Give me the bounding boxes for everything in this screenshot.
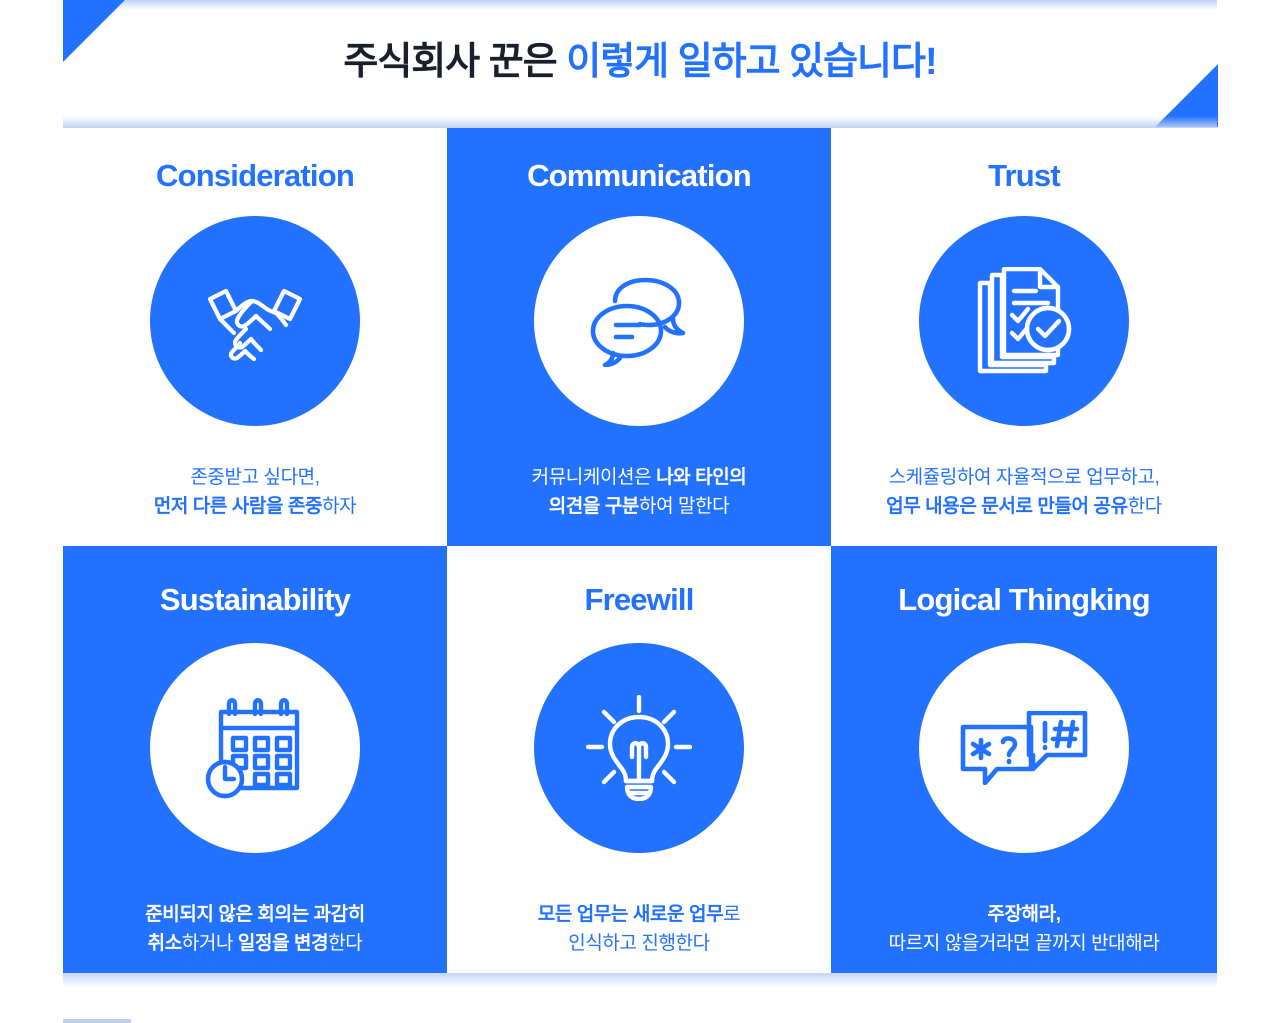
symbol-bubbles-icon (919, 643, 1129, 853)
value-card-trust[interactable]: Trust 스케쥴링하여 자율적으로 업무하고, 업무 내용은 문서로 만들어 … (831, 128, 1217, 546)
caption-normal: 하자 (322, 496, 356, 517)
card-title: Sustainability (160, 584, 350, 615)
caption-bold: 준비되지 않은 회의는 과감히 (145, 904, 365, 925)
caption-normal: 인식하고 진행한다 (568, 933, 710, 954)
caption-line-2: 먼저 다른 사람을 존중하자 (154, 493, 357, 522)
page-title-blue-part: 이렇게 일하고 있습니다! (566, 41, 936, 83)
values-grid: Consideration 존중받고 싶다면, 먼저 다른 사람을 존중하자 C… (63, 128, 1217, 973)
caption-normal: 한다 (1128, 496, 1162, 517)
card-title: Logical Thingking (898, 584, 1150, 615)
caption-line-2: 인식하고 진행한다 (538, 930, 741, 959)
value-card-communication[interactable]: Communication 커뮤니케이션은 나와 타인의 의견을 구분하여 말한… (447, 128, 831, 546)
card-caption: 스케쥴링하여 자율적으로 업무하고, 업무 내용은 문서로 만들어 공유한다 (886, 464, 1162, 522)
caption-line-1: 존중받고 싶다면, (154, 464, 357, 493)
caption-line-2: 의견을 구분하여 말한다 (532, 493, 747, 522)
card-title: Freewill (584, 584, 693, 615)
caption-normal: 로 (723, 904, 740, 925)
footer-accent-bar (63, 1019, 131, 1023)
caption-line-2: 따르지 않을거라면 끝까지 반대해라 (889, 930, 1160, 959)
caption-bold: 모든 업무는 새로운 업무 (538, 904, 723, 925)
document-check-icon (919, 216, 1129, 426)
value-card-consideration[interactable]: Consideration 존중받고 싶다면, 먼저 다른 사람을 존중하자 (63, 128, 447, 546)
card-title: Communication (527, 160, 751, 191)
caption-bold-2: 일정을 변경 (238, 933, 328, 954)
caption-bold: 취소 (148, 933, 182, 954)
caption-normal: 하거나 (182, 933, 238, 954)
caption-bold: 의견을 구분 (549, 496, 639, 517)
caption-bold: 주장해라, (987, 904, 1060, 925)
page-header: 주식회사 꾼은 이렇게 일하고 있습니다! (0, 0, 1280, 128)
caption-line-2: 취소하거나 일정을 변경한다 (145, 930, 365, 959)
caption-line-2: 업무 내용은 문서로 만들어 공유한다 (886, 493, 1162, 522)
card-caption: 커뮤니케이션은 나와 타인의 의견을 구분하여 말한다 (532, 464, 747, 522)
card-caption: 존중받고 싶다면, 먼저 다른 사람을 존중하자 (154, 464, 357, 522)
value-card-sustainability[interactable]: Sustainability 준비되지 않 (63, 546, 447, 973)
card-title: Consideration (156, 160, 354, 191)
page-title: 주식회사 꾼은 이렇게 일하고 있습니다! (0, 30, 1280, 85)
caption-line-1: 스케쥴링하여 자율적으로 업무하고, (886, 464, 1162, 493)
grid-bottom-glow (63, 973, 1217, 987)
lightbulb-icon (534, 643, 744, 853)
card-caption: 모든 업무는 새로운 업무로 인식하고 진행한다 (538, 901, 741, 959)
caption-line-1: 준비되지 않은 회의는 과감히 (145, 901, 365, 930)
handshake-icon (150, 216, 360, 426)
caption-line-1: 모든 업무는 새로운 업무로 (538, 901, 741, 930)
caption-normal-2: 한다 (328, 933, 362, 954)
card-caption: 주장해라, 따르지 않을거라면 끝까지 반대해라 (889, 901, 1160, 959)
caption-normal: 존중받고 싶다면, (190, 467, 319, 488)
caption-normal: 커뮤니케이션은 (532, 467, 656, 488)
value-card-freewill[interactable]: Freewill 모든 업무는 새로운 업무로 인식하고 진행한다 (447, 546, 831, 973)
caption-normal: 하여 말한다 (639, 496, 729, 517)
header-bottom-glow (63, 116, 1217, 128)
caption-bold: 업무 내용은 문서로 만들어 공유 (886, 496, 1128, 517)
card-caption: 준비되지 않은 회의는 과감히 취소하거나 일정을 변경한다 (145, 901, 365, 959)
caption-normal: 스케쥴링하여 자율적으로 업무하고, (889, 467, 1160, 488)
value-card-logical-thinking[interactable]: Logical Thingking 주장해라, 따르지 않을거라면 끝까지 반대… (831, 546, 1217, 973)
page-title-dark-part: 주식회사 꾼은 (343, 41, 566, 83)
card-title: Trust (988, 160, 1060, 191)
caption-line-1: 커뮤니케이션은 나와 타인의 (532, 464, 747, 493)
caption-line-1: 주장해라, (889, 901, 1160, 930)
caption-bold: 나와 타인의 (656, 467, 746, 488)
speech-bubbles-icon (534, 216, 744, 426)
caption-bold: 먼저 다른 사람을 존중 (154, 496, 322, 517)
calendar-clock-icon (150, 643, 360, 853)
header-top-glow (63, 0, 1217, 10)
caption-normal: 따르지 않을거라면 끝까지 반대해라 (889, 933, 1160, 954)
